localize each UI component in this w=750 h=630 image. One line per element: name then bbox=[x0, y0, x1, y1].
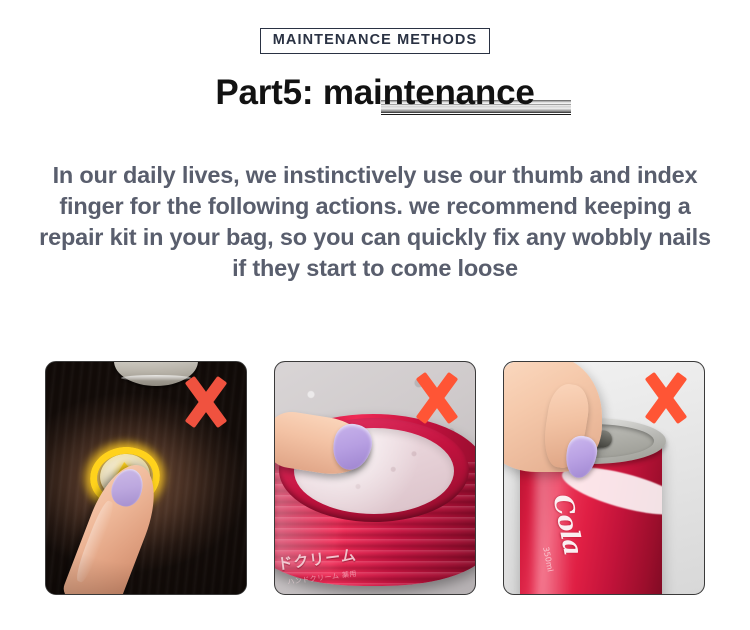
eyebrow-label-box: MAINTENANCE METHODS bbox=[260, 28, 491, 54]
eyebrow-label-row: MAINTENANCE METHODS bbox=[0, 28, 750, 54]
eyebrow-label-text: MAINTENANCE METHODS bbox=[273, 33, 478, 48]
page-title-inner: Part5: maintenance bbox=[215, 70, 534, 126]
panel-soda-can: Cola 350ml bbox=[503, 361, 705, 595]
panel-cream-jar: ドクリーム ハンドクリーム 薬用 bbox=[274, 361, 476, 595]
x-mark-icon bbox=[640, 372, 692, 424]
panel-row: ドクリーム ハンドクリーム 薬用 Cola 350ml bbox=[0, 361, 750, 595]
panel-elevator-button bbox=[45, 361, 247, 595]
page-title-row: Part5: maintenance bbox=[0, 70, 750, 126]
x-mark-icon bbox=[180, 376, 232, 428]
x-mark-icon bbox=[411, 372, 463, 424]
page-title: Part5: maintenance bbox=[215, 70, 534, 116]
body-paragraph: In our daily lives, we instinctively use… bbox=[30, 160, 720, 284]
